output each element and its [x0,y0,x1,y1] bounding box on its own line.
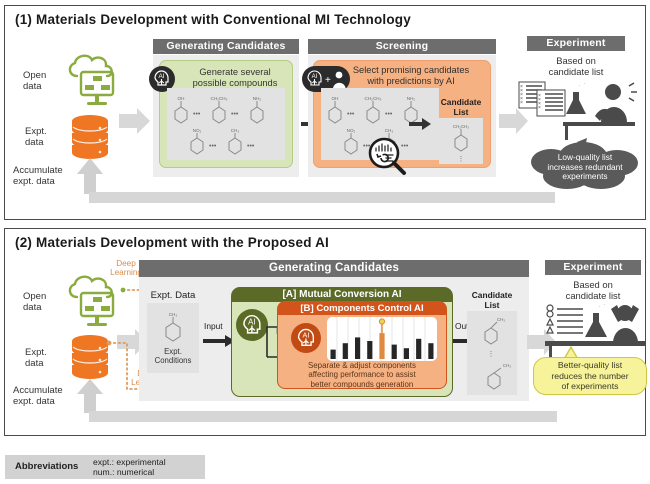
svg-text:NH₂: NH₂ [253,96,262,101]
better-quality-balloon: Better-quality list reduces the number o… [533,357,647,395]
svg-text:•••: ••• [347,111,355,118]
svg-text:⋮: ⋮ [458,156,465,163]
molecule-structures-icon-1: OH ••• CH₂CH₃ ••• NH₂ NO₂ ••• CH₃ ••• [167,88,285,160]
expt-data-box: CH₃ Expt. Conditions [147,303,199,373]
svg-text:˙: ˙ [579,85,581,91]
panel-proposed-ai: (2) Materials Development with the Propo… [4,228,646,436]
scientist-bench-icon-1: ××××× ×××× ˙˙ [517,80,641,146]
accumulate-label-1: Accumulate expt. data [13,165,63,187]
svg-text:⋮: ⋮ [488,351,495,358]
abbreviations-strip: Abbreviations expt.: experimental num.: … [5,455,205,479]
stage-header-experiment-2: Experiment [545,260,641,275]
ai-badge-components-control: AI [291,323,321,353]
svg-text:NH₂: NH₂ [407,96,416,101]
input-label: Input [204,321,223,332]
abbreviations-text: expt.: experimental num.: numerical [93,457,166,477]
panel-conventional: (1) Materials Development with Conventio… [4,5,646,220]
candidate-list-box-2: CH₃ ⋮ CH₃ [467,311,517,395]
open-data-label-2: Open data [23,291,46,313]
magnifier-analysis-icon [367,137,407,177]
svg-text:•••: ••• [231,111,239,118]
stage-header-experiment-1: Experiment [527,36,625,51]
svg-text:CH₃: CH₃ [385,128,394,133]
accumulate-label-2: Accumulate expt. data [13,385,63,407]
screening-caption: Select promising candidates with predict… [335,65,487,87]
svg-text:CH₃: CH₃ [497,317,505,322]
generating-candidates-caption-1: Generate several possible compounds [177,67,293,89]
components-bar-chart [327,317,437,361]
svg-text:CH₃: CH₃ [231,128,240,133]
candidate-list-label-2: Candidate List [461,291,523,310]
molecule-grid-1: OH ••• CH₂CH₃ ••• NH₂ NO₂ ••• CH₃ ••• [167,88,285,160]
svg-text:˙: ˙ [599,306,601,312]
bar-chart-icon [327,317,437,361]
svg-text:+: + [325,75,331,86]
expt-data-label-1: Expt. data [25,126,47,148]
mutual-conversion-ai-header: [A] Mutual Conversion AI [232,288,452,302]
experiment-caption-1: Based on candidate list [525,55,627,78]
candidate-molecule-icon-2: CH₃ ⋮ CH₃ [467,311,517,395]
expt-conditions-label: Expt. Conditions [147,347,199,365]
stage-header-generating-candidates-2: Generating Candidates [139,260,529,277]
candidate-list-label-1: Candidate List [433,98,489,117]
expt-data-title: Expt. Data [137,290,209,301]
ai-head-icon: AI [151,68,173,90]
svg-text:CH₂CH₃: CH₂CH₃ [365,96,382,101]
stage-header-screening: Screening [308,39,496,54]
expt-data-label-2: Expt. data [25,347,47,369]
svg-text:˙: ˙ [604,304,606,310]
experiment-caption-2: Based on candidate list [543,279,643,302]
diagram-canvas: (1) Materials Development with Conventio… [0,0,650,484]
svg-text:NO₂: NO₂ [193,128,202,133]
svg-text:CH₂CH₃: CH₂CH₃ [211,96,228,101]
svg-text:CH₃: CH₃ [169,312,178,317]
components-control-caption: Separate & adjust components affecting p… [277,361,447,389]
ai-head-icon-rust: AI [294,326,319,351]
components-control-ai-header: [B] Components Control AI [278,302,446,315]
panel1-title: (1) Materials Development with Conventio… [15,12,411,27]
svg-text:CH₃: CH₃ [503,363,511,368]
svg-text:NO₂: NO₂ [347,128,356,133]
svg-text:˙: ˙ [584,83,586,89]
svg-text:CH₂CH₃: CH₂CH₃ [453,124,469,129]
abbreviations-title: Abbreviations [15,461,78,472]
svg-text:•••: ••• [209,143,217,150]
accumulate-arrow-up-1 [75,158,105,194]
svg-text:OH: OH [332,96,339,101]
svg-text:AI: AI [302,330,309,339]
panel2-title: (2) Materials Development with the Propo… [15,235,329,250]
stage-header-generating-candidates-1: Generating Candidates [153,39,299,54]
svg-text:•••: ••• [247,143,255,150]
flow-arrow-1 [119,108,151,134]
svg-text:OH: OH [178,96,185,101]
screening-to-list-arrow [409,118,431,130]
svg-text:•••: ••• [385,111,393,118]
candidate-list-box-1: CH₂CH₃ ⋮ [439,118,483,164]
expt-database-icon [67,113,113,159]
svg-text:×: × [520,100,523,106]
accumulate-bar-1 [89,192,555,203]
low-quality-cloud-text: Low-quality list increases redundant exp… [527,153,643,182]
svg-text:×: × [538,105,541,111]
open-data-label-1: Open data [23,70,46,92]
svg-text:AI: AI [158,73,164,80]
open-data-cloud-icon [63,54,125,110]
candidate-molecule-icon-1: CH₂CH₃ ⋮ [439,118,483,164]
svg-text:•••: ••• [193,111,201,118]
